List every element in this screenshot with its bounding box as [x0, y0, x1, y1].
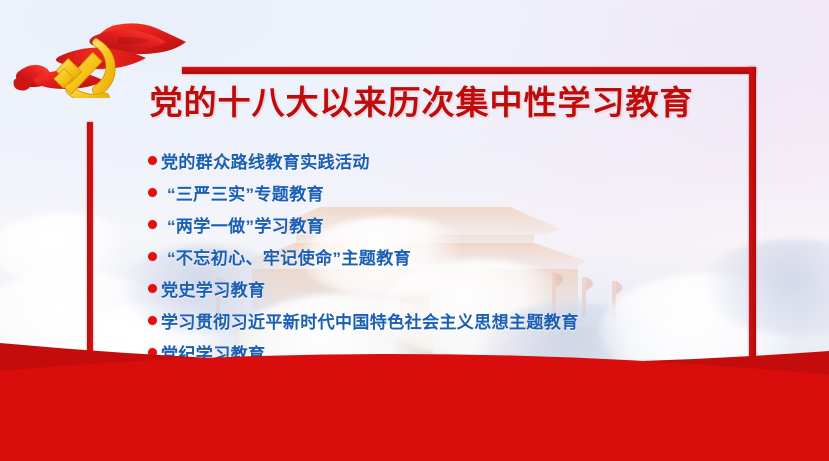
list-item-label: “不忘初心、牢记使命”主题教育 — [167, 244, 411, 269]
list-item-label: 深入贯彻中央八项规定精神学习教育 — [161, 372, 439, 397]
list-item: 党纪学习教育 — [148, 337, 738, 367]
list-item: 学习贯彻习近平新时代中国特色社会主义思想主题教育 — [148, 305, 738, 335]
list-item-label: “两学一做”学习教育 — [167, 212, 324, 237]
red-dot-icon — [148, 284, 157, 293]
red-dot-icon — [148, 220, 157, 229]
slide-canvas: 党的十八大以来历次集中性学习教育 党的群众路线教育实践活动 “三严三实”专题教育… — [0, 0, 829, 461]
red-dot-icon — [148, 156, 157, 165]
list-item: 党的群众路线教育实践活动 — [148, 145, 738, 175]
list-item-label: 党纪学习教育 — [161, 340, 265, 365]
page-title: 党的十八大以来历次集中性学习教育 — [87, 84, 756, 123]
list-item: “不忘初心、牢记使命”主题教育 — [148, 241, 738, 271]
list-item: “三严三实”专题教育 — [148, 177, 738, 207]
red-dot-icon — [148, 188, 157, 197]
red-dot-icon — [148, 252, 157, 261]
education-campaign-list: 党的群众路线教育实践活动 “三严三实”专题教育 “两学一做”学习教育 “不忘初心… — [148, 145, 738, 401]
list-item-label: “三严三实”专题教育 — [167, 180, 324, 205]
list-item: 深入贯彻中央八项规定精神学习教育 — [148, 369, 738, 399]
red-dot-icon — [148, 380, 157, 389]
red-dot-icon — [148, 316, 157, 325]
red-dot-icon — [148, 348, 157, 357]
list-item-label: 党史学习教育 — [161, 276, 265, 301]
list-item: 党史学习教育 — [148, 273, 738, 303]
list-item: “两学一做”学习教育 — [148, 209, 738, 239]
list-item-label: 学习贯彻习近平新时代中国特色社会主义思想主题教育 — [161, 308, 579, 333]
list-item-label: 党的群众路线教育实践活动 — [161, 148, 370, 173]
